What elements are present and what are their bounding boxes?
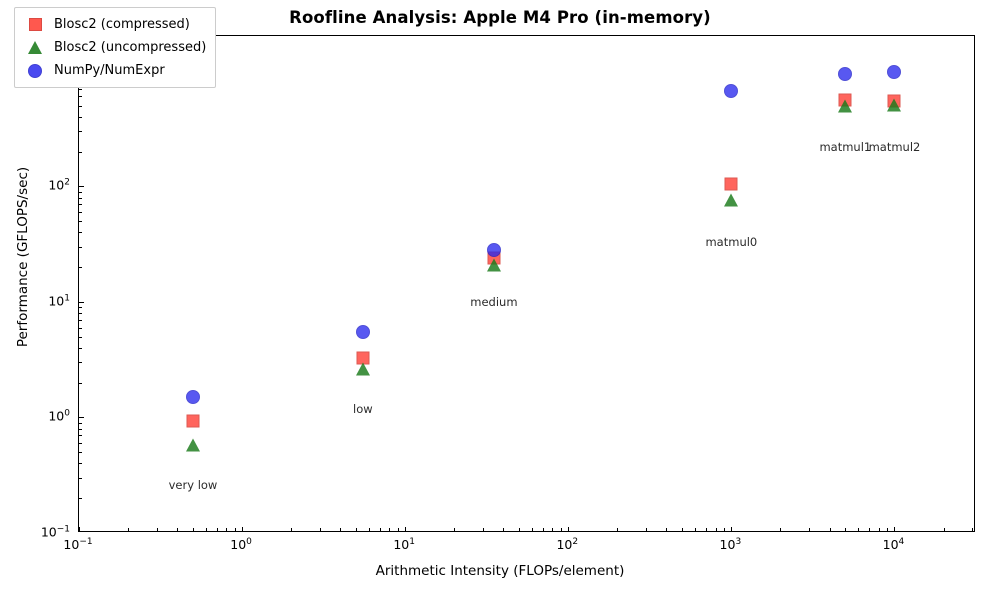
x-axis-minor-tick <box>666 528 667 531</box>
y-axis-minor-tick <box>79 452 82 453</box>
x-axis-minor-tick <box>706 528 707 531</box>
y-axis-minor-tick <box>79 307 82 308</box>
point-annotation-label: matmul0 <box>705 235 757 249</box>
x-axis-minor-tick <box>226 528 227 531</box>
x-axis-minor-tick <box>128 528 129 531</box>
x-axis-tick <box>79 527 80 532</box>
x-axis-minor-tick <box>483 528 484 531</box>
x-axis-minor-tick <box>235 528 236 531</box>
data-point-marker <box>186 415 199 428</box>
figure-canvas: Roofline Analysis: Apple M4 Pro (in-memo… <box>0 0 1000 600</box>
x-axis-minor-tick <box>503 528 504 531</box>
x-axis-minor-tick <box>780 528 781 531</box>
y-axis-minor-tick <box>79 443 82 444</box>
x-axis-minor-tick <box>869 528 870 531</box>
data-point-marker <box>356 325 370 339</box>
legend-circle-marker-icon <box>22 64 48 78</box>
y-axis-minor-tick <box>79 423 82 424</box>
y-axis-tick-label: 101 <box>48 293 70 308</box>
x-axis-minor-tick <box>887 528 888 531</box>
legend-item-label: NumPy/NumExpr <box>54 63 165 78</box>
y-axis-minor-tick <box>79 478 82 479</box>
x-axis-tick-label: 102 <box>556 537 578 552</box>
y-axis-tick <box>79 186 84 187</box>
x-axis-minor-tick <box>380 528 381 531</box>
x-axis-minor-tick <box>972 528 973 531</box>
point-annotation-label: low <box>353 402 373 416</box>
x-axis-tick-label: 104 <box>883 537 905 552</box>
x-axis-tick <box>405 527 406 532</box>
data-point-marker <box>838 67 852 81</box>
x-axis-minor-tick <box>369 528 370 531</box>
x-axis-minor-tick <box>157 528 158 531</box>
x-axis-minor-tick <box>646 528 647 531</box>
y-axis-minor-tick <box>79 232 82 233</box>
x-axis-minor-tick <box>340 528 341 531</box>
point-annotation-label: medium <box>470 295 517 309</box>
x-axis-minor-tick <box>809 528 810 531</box>
legend-item-label: Blosc2 (compressed) <box>54 17 190 32</box>
x-axis-minor-tick <box>617 528 618 531</box>
data-point-marker <box>487 258 501 271</box>
x-axis-minor-tick <box>320 528 321 531</box>
x-axis-minor-tick <box>695 528 696 531</box>
data-point-marker <box>724 84 738 98</box>
data-point-marker <box>838 99 852 112</box>
data-point-marker <box>356 363 370 376</box>
point-annotation-label: very low <box>169 478 218 492</box>
x-axis-label: Arithmetic Intensity (FLOPs/element) <box>0 563 1000 579</box>
y-axis-minor-tick <box>79 337 82 338</box>
y-axis-minor-tick <box>79 435 82 436</box>
x-axis-minor-tick <box>177 528 178 531</box>
x-axis-minor-tick <box>682 528 683 531</box>
x-axis-minor-tick <box>398 528 399 531</box>
y-axis-minor-tick <box>79 131 82 132</box>
x-axis-minor-tick <box>519 528 520 531</box>
legend-item[interactable]: Blosc2 (compressed) <box>22 13 206 36</box>
data-point-marker <box>487 243 501 257</box>
x-axis-minor-tick <box>858 528 859 531</box>
y-axis-minor-tick <box>79 267 82 268</box>
data-point-marker <box>186 438 200 451</box>
legend-triangle-marker-icon <box>22 41 48 54</box>
y-axis-minor-tick <box>79 463 82 464</box>
x-axis-minor-tick <box>845 528 846 531</box>
x-axis-minor-tick <box>724 528 725 531</box>
data-point-marker <box>186 390 200 404</box>
y-axis-minor-tick <box>79 362 82 363</box>
y-axis-minor-tick <box>79 348 82 349</box>
x-axis-minor-tick <box>543 528 544 531</box>
y-axis-minor-tick <box>79 117 82 118</box>
x-axis-minor-tick <box>206 528 207 531</box>
x-axis-tick-label: 100 <box>230 537 252 552</box>
data-point-marker <box>887 65 901 79</box>
x-axis-minor-tick <box>561 528 562 531</box>
legend-item[interactable]: Blosc2 (uncompressed) <box>22 36 206 59</box>
x-axis-tick <box>731 527 732 532</box>
x-axis-tick-label: 103 <box>720 537 742 552</box>
chart-legend: Blosc2 (compressed)Blosc2 (uncompressed)… <box>14 7 216 88</box>
y-axis-minor-tick <box>79 221 82 222</box>
x-axis-minor-tick <box>552 528 553 531</box>
point-annotation-label: matmul2 <box>869 140 921 154</box>
y-axis-minor-tick <box>79 328 82 329</box>
x-axis-minor-tick <box>356 528 357 531</box>
y-axis-minor-tick <box>79 498 82 499</box>
y-axis-tick <box>79 417 84 418</box>
y-axis-tick-label: 10−1 <box>41 525 70 540</box>
x-axis-minor-tick <box>389 528 390 531</box>
legend-item-label: Blosc2 (uncompressed) <box>54 40 206 55</box>
data-point-marker <box>887 99 901 112</box>
y-axis-minor-tick <box>79 152 82 153</box>
y-axis-minor-tick <box>79 313 82 314</box>
x-axis-minor-tick <box>716 528 717 531</box>
plot-area: very lowlowmediummatmul0matmul1matmul2 <box>79 36 974 531</box>
x-axis-minor-tick <box>291 528 292 531</box>
y-axis-tick-label: 100 <box>48 409 70 424</box>
x-axis-tick <box>242 527 243 532</box>
y-axis-tick-label: 102 <box>48 178 70 193</box>
x-axis-minor-tick <box>454 528 455 531</box>
x-axis-tick-label: 101 <box>393 537 415 552</box>
y-axis-minor-tick <box>79 89 82 90</box>
x-axis-minor-tick <box>532 528 533 531</box>
y-axis-minor-tick <box>79 383 82 384</box>
y-axis-minor-tick <box>79 204 82 205</box>
plot-frame: very lowlowmediummatmul0matmul1matmul2 <box>78 35 975 532</box>
x-axis-minor-tick <box>830 528 831 531</box>
data-point-marker <box>724 194 738 207</box>
y-axis-minor-tick <box>79 429 82 430</box>
y-axis-minor-tick <box>79 198 82 199</box>
y-axis-minor-tick <box>79 106 82 107</box>
y-axis-minor-tick <box>79 192 82 193</box>
x-axis-minor-tick <box>217 528 218 531</box>
x-axis-tick <box>568 527 569 532</box>
point-annotation-label: matmul1 <box>819 140 871 154</box>
y-axis-minor-tick <box>79 212 82 213</box>
y-axis-tick <box>79 302 84 303</box>
x-axis-minor-tick <box>944 528 945 531</box>
y-axis-minor-tick <box>79 96 82 97</box>
legend-square-marker-icon <box>22 18 48 31</box>
x-axis-tick <box>894 527 895 532</box>
y-axis-minor-tick <box>79 247 82 248</box>
y-axis-minor-tick <box>79 320 82 321</box>
legend-item[interactable]: NumPy/NumExpr <box>22 59 206 82</box>
x-axis-minor-tick <box>193 528 194 531</box>
data-point-marker <box>725 178 738 191</box>
x-axis-minor-tick <box>879 528 880 531</box>
